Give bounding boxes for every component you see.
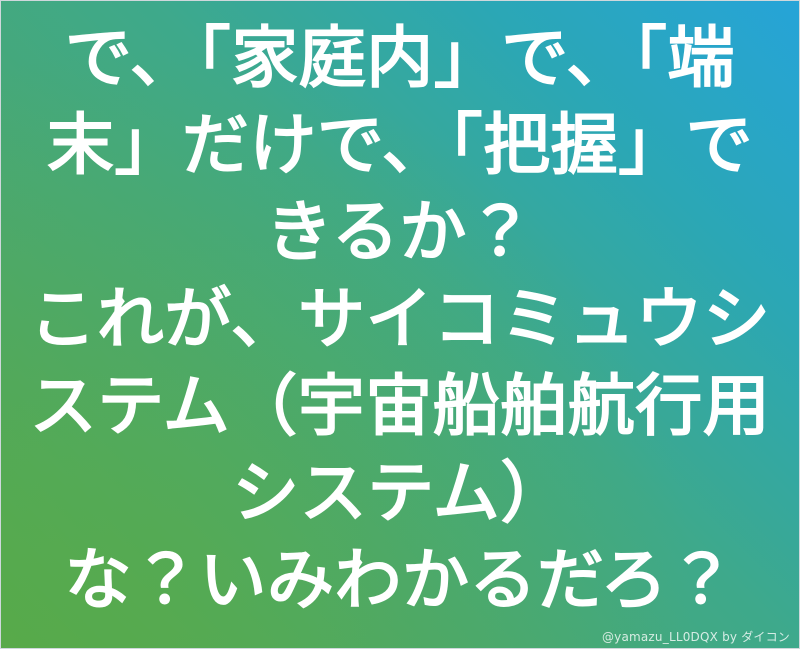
quote-line-7: な？いみわかるだろ？ [15,537,785,624]
quote-line-4: これが、サイコミュウシ [15,276,785,363]
quote-line-1: で、「家庭内」で、「端 [15,15,785,102]
quote-line-5: ステム（宇宙船舶航行用 [15,363,785,450]
watermark-credit: @yamazu_LL0DQX by ダイコン [602,631,790,643]
quote-text-block: で、「家庭内」で、「端 末」だけで、「把握」で きるか？ これが、サイコミュウシ… [1,15,799,624]
quote-card: で、「家庭内」で、「端 末」だけで、「把握」で きるか？ これが、サイコミュウシ… [0,0,800,649]
quote-line-6: システム） [15,450,785,537]
quote-line-3: きるか？ [15,189,785,276]
quote-line-2: 末」だけで、「把握」で [15,102,785,189]
